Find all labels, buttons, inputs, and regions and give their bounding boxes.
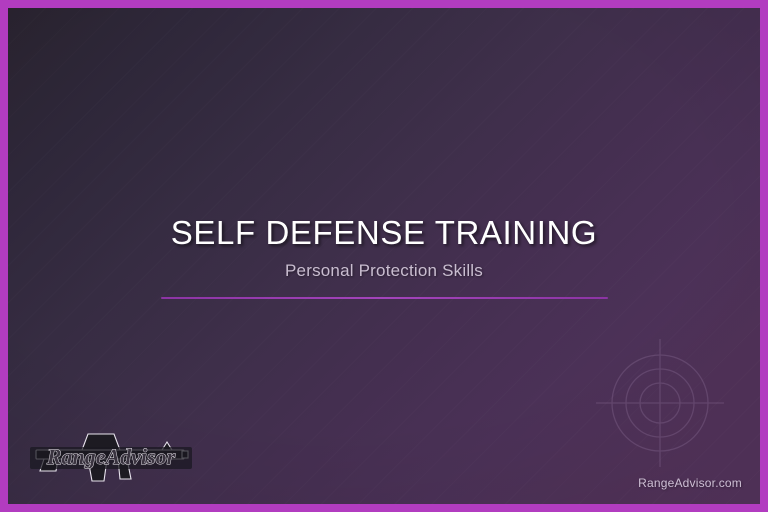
title-block: SELF DEFENSE TRAINING Personal Protectio… bbox=[8, 214, 760, 299]
crosshair-target-icon bbox=[586, 329, 734, 477]
rifle-logo-icon: RangeAdvisor bbox=[22, 420, 200, 490]
presentation-slide: SELF DEFENSE TRAINING Personal Protectio… bbox=[0, 0, 768, 512]
page-title: SELF DEFENSE TRAINING bbox=[8, 214, 760, 252]
logo-wordmark: RangeAdvisor bbox=[46, 444, 176, 469]
accent-divider bbox=[161, 297, 608, 299]
page-subtitle: Personal Protection Skills bbox=[8, 261, 760, 281]
watermark-url: RangeAdvisor.com bbox=[638, 476, 742, 490]
